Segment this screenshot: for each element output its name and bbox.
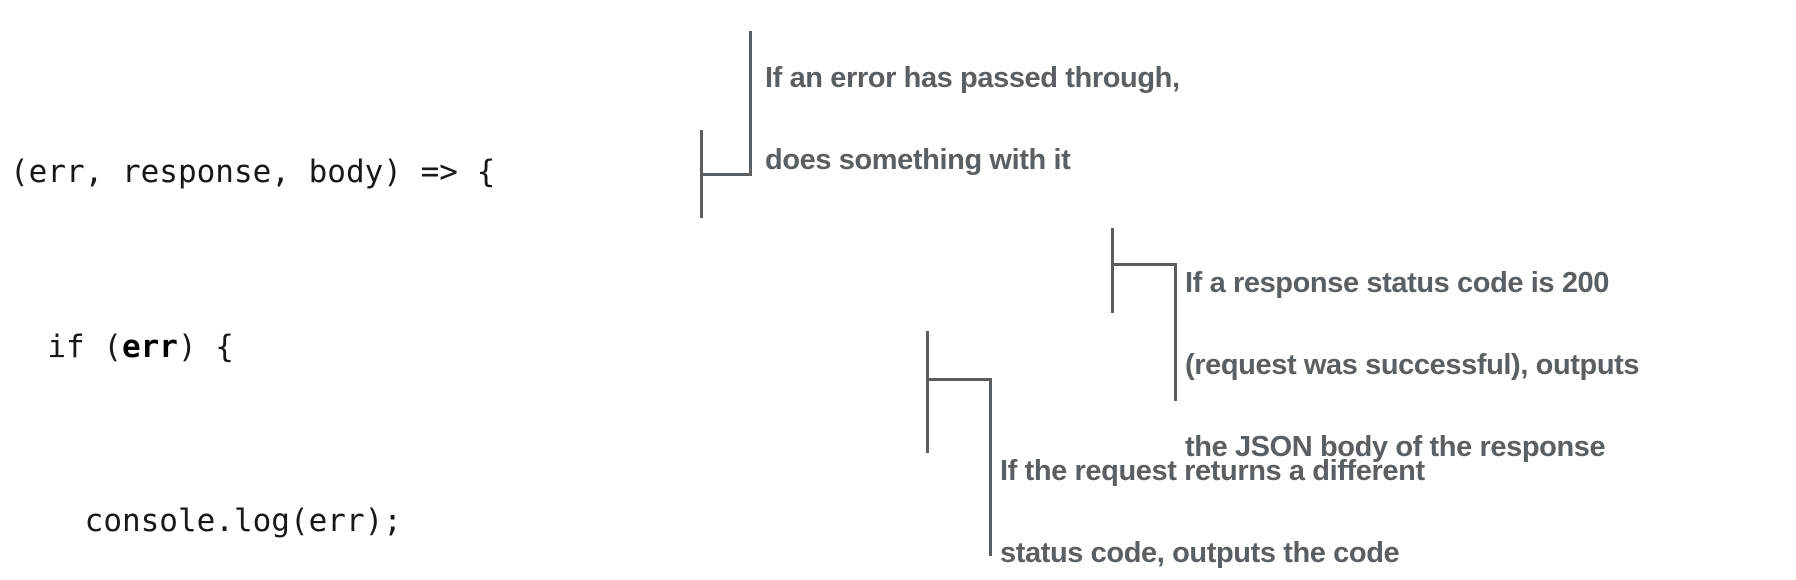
leader-vertical-label [989,378,992,556]
leader-horizontal-connector [1111,263,1177,266]
leader-vertical-label [1174,263,1177,401]
annotation-text-line: does something with it [765,140,1180,181]
code-line-1: (err, response, body) => { [10,151,813,195]
annotation-text-line: If the request returns a different [1000,451,1425,492]
leader-vertical-target [926,331,929,453]
annotation-other-status-branch: If the request returns a different statu… [1000,410,1425,580]
code-listing: (err, response, body) => { if (err) { co… [10,64,813,580]
code-token: (err, response, body) => { [10,154,495,190]
code-token-emphasis: err [122,329,178,365]
leader-vertical-target [1111,228,1114,313]
annotation-text-line: If an error has passed through, [765,58,1180,99]
code-token: ) { [178,329,234,365]
code-token: if ( [47,329,122,365]
code-indent [10,329,47,365]
code-token: console.log(err); [85,503,402,539]
code-indent [10,503,85,539]
annotation-error-branch: If an error has passed through, does som… [765,17,1180,222]
code-line-2: if (err) { [10,326,813,370]
leader-horizontal-connector [926,378,992,381]
figure-canvas: (err, response, body) => { if (err) { co… [0,0,1796,580]
annotation-text-line: If a response status code is 200 [1185,263,1639,304]
annotation-text-line: (request was successful), outputs [1185,345,1639,386]
code-line-3: console.log(err); [10,500,813,544]
annotation-text-line: status code, outputs the code [1000,533,1425,574]
